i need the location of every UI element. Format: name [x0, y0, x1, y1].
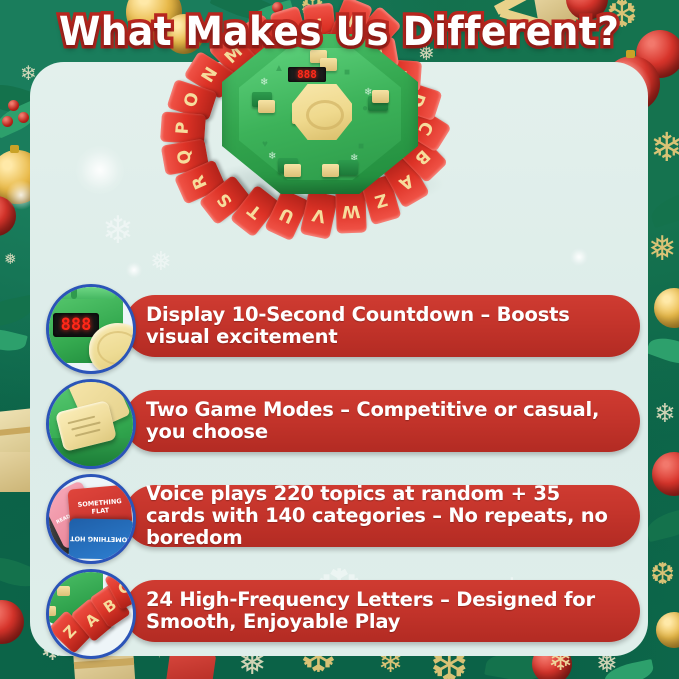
sparkle-glow: [76, 146, 124, 194]
round-button: [89, 323, 136, 374]
countdown-value: 888: [297, 68, 317, 81]
tree-glyph-icon: ▲: [274, 64, 284, 74]
snowflake-icon: ❆: [650, 560, 675, 590]
hub-emblem: [306, 100, 344, 130]
snowflake-icon: ❅: [4, 252, 17, 267]
snowflake-icon: ❄: [268, 152, 276, 162]
sparkle-glow: [126, 262, 142, 278]
board-token: [322, 164, 339, 177]
berry-icon: [18, 112, 29, 123]
led-value: 888: [61, 315, 92, 335]
sparkle-glow: [570, 248, 588, 266]
feature-bar: 24 High-Frequency Letters – Designed for…: [124, 580, 640, 642]
feature-row: Display 10-Second Countdown – Boosts vis…: [46, 295, 640, 357]
countdown-display-icon: 888: [46, 284, 136, 374]
heart-glyph-icon: ♥: [262, 140, 268, 150]
snowflake-icon: ❄: [650, 128, 679, 168]
gift-glyph-icon: ■: [344, 68, 350, 78]
snowflake-icon: ❄: [654, 400, 676, 426]
letter-keys-icon: Z A B C: [46, 569, 136, 659]
feature-bar: Voice plays 220 topics at random + 35 ca…: [124, 485, 640, 547]
snowflake-icon: ❄: [102, 212, 134, 250]
led-screen: 888: [53, 313, 99, 337]
board-token: [46, 606, 56, 616]
board-token: [57, 586, 70, 596]
board-token: [338, 160, 358, 175]
snowflake-icon: ❅: [648, 232, 677, 266]
feature-row: 24 High-Frequency Letters – Designed for…: [46, 580, 640, 642]
snowflake-icon: ❄: [260, 78, 268, 88]
keycap: W: [335, 188, 367, 233]
sock-glyph-icon: ■: [358, 142, 364, 152]
feature-label: Two Game Modes – Competitive or casual, …: [124, 399, 640, 443]
game-mode-button-icon: [46, 379, 136, 469]
feature-label: 24 High-Frequency Letters – Designed for…: [124, 589, 640, 633]
page-title: What Makes Us Different?: [0, 4, 679, 60]
feature-bar: Two Game Modes – Competitive or casual, …: [124, 390, 640, 452]
topic-cards-icon: READ ALOUD SOMETHING FLAT SOMETHING HOT: [46, 474, 136, 564]
ornament-cap: [10, 145, 19, 153]
blue-card: SOMETHING HOT: [69, 518, 134, 559]
berry-icon: [8, 100, 19, 111]
board-token: [372, 90, 389, 103]
countdown-display: 888: [288, 67, 326, 82]
board-token: [258, 100, 275, 113]
device-nub: [71, 285, 77, 299]
button-line: [75, 429, 101, 437]
feature-row: Voice plays 220 topics at random + 35 ca…: [46, 485, 640, 547]
snowflake-icon: ❅: [150, 248, 172, 274]
feature-row: Two Game Modes – Competitive or casual, …: [46, 390, 640, 452]
device-top-edge: [51, 287, 115, 299]
feature-label: Voice plays 220 topics at random + 35 ca…: [124, 483, 640, 549]
page-title-text: What Makes Us Different?: [59, 9, 619, 55]
board-token: [284, 164, 301, 177]
berry-icon: [2, 116, 13, 127]
center-hub: [292, 84, 352, 140]
feature-label: Display 10-Second Countdown – Boosts vis…: [124, 304, 640, 348]
feature-bar: Display 10-Second Countdown – Boosts vis…: [124, 295, 640, 357]
